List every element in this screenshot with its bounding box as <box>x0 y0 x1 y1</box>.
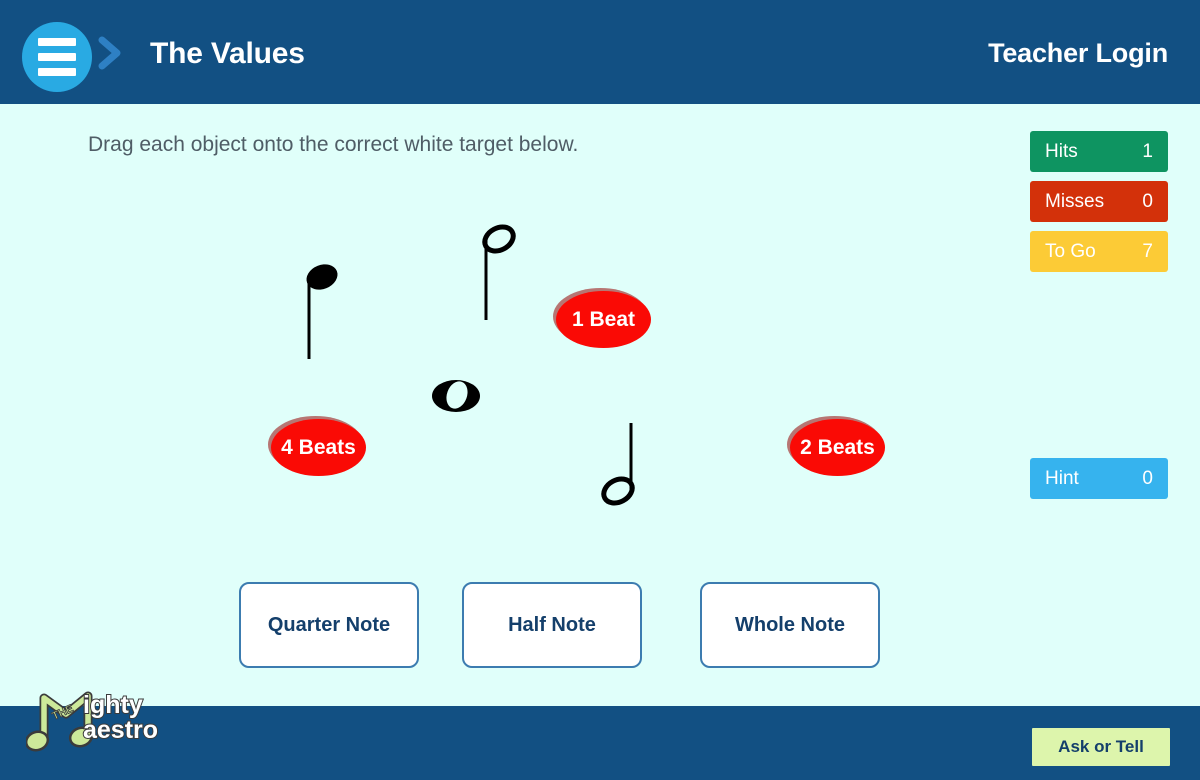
drop-target-quarter-note[interactable]: Quarter Note <box>239 582 419 668</box>
menu-bar-2 <box>38 53 76 61</box>
hits-label: Hits <box>1045 141 1078 163</box>
chevron-right-icon[interactable] <box>97 36 123 70</box>
hamburger-menu-icon[interactable] <box>22 22 92 92</box>
to-go-value: 7 <box>1142 241 1153 263</box>
app-header: The Values Teacher Login <box>0 0 1200 104</box>
hint-value: 0 <box>1142 468 1153 490</box>
menu-bar-1 <box>38 38 76 46</box>
instruction-text: Drag each object onto the correct white … <box>88 133 578 157</box>
to-go-label: To Go <box>1045 241 1096 263</box>
half-note-glyph[interactable] <box>478 220 526 333</box>
hint-button[interactable]: Hint 0 <box>1030 458 1168 499</box>
status-badge-misses: Misses 0 <box>1030 181 1168 222</box>
beat-oval-label: 1 Beat <box>572 308 635 332</box>
drop-target-label: Quarter Note <box>268 614 390 637</box>
app-footer <box>0 706 1200 780</box>
misses-value: 0 <box>1142 191 1153 213</box>
draggable-beat-oval[interactable]: 1 Beat <box>556 291 651 348</box>
page-title: The Values <box>150 37 305 71</box>
app-root: The Values Teacher Login Drag each objec… <box>0 0 1200 780</box>
teacher-login-link[interactable]: Teacher Login <box>988 38 1168 69</box>
hint-label: Hint <box>1045 468 1079 490</box>
quarter-note-glyph[interactable] <box>300 255 350 370</box>
status-badge-hits: Hits 1 <box>1030 131 1168 172</box>
drop-target-label: Half Note <box>508 614 596 637</box>
hits-value: 1 <box>1142 141 1153 163</box>
beat-oval-label: 4 Beats <box>281 436 356 460</box>
drop-target-label: Whole Note <box>735 614 845 637</box>
half-note-glyph[interactable] <box>600 415 648 520</box>
menu-bar-3 <box>38 68 76 76</box>
misses-label: Misses <box>1045 191 1104 213</box>
whole-note-glyph[interactable] <box>428 375 484 422</box>
beat-oval-label: 2 Beats <box>800 436 875 460</box>
ask-or-tell-label: Ask or Tell <box>1058 737 1144 757</box>
ask-or-tell-button[interactable]: Ask or Tell <box>1032 728 1170 766</box>
status-badge-to-go: To Go 7 <box>1030 231 1168 272</box>
draggable-beat-oval[interactable]: 4 Beats <box>271 419 366 476</box>
draggable-beat-oval[interactable]: 2 Beats <box>790 419 885 476</box>
drop-target-whole-note[interactable]: Whole Note <box>700 582 880 668</box>
drop-target-half-note[interactable]: Half Note <box>462 582 642 668</box>
